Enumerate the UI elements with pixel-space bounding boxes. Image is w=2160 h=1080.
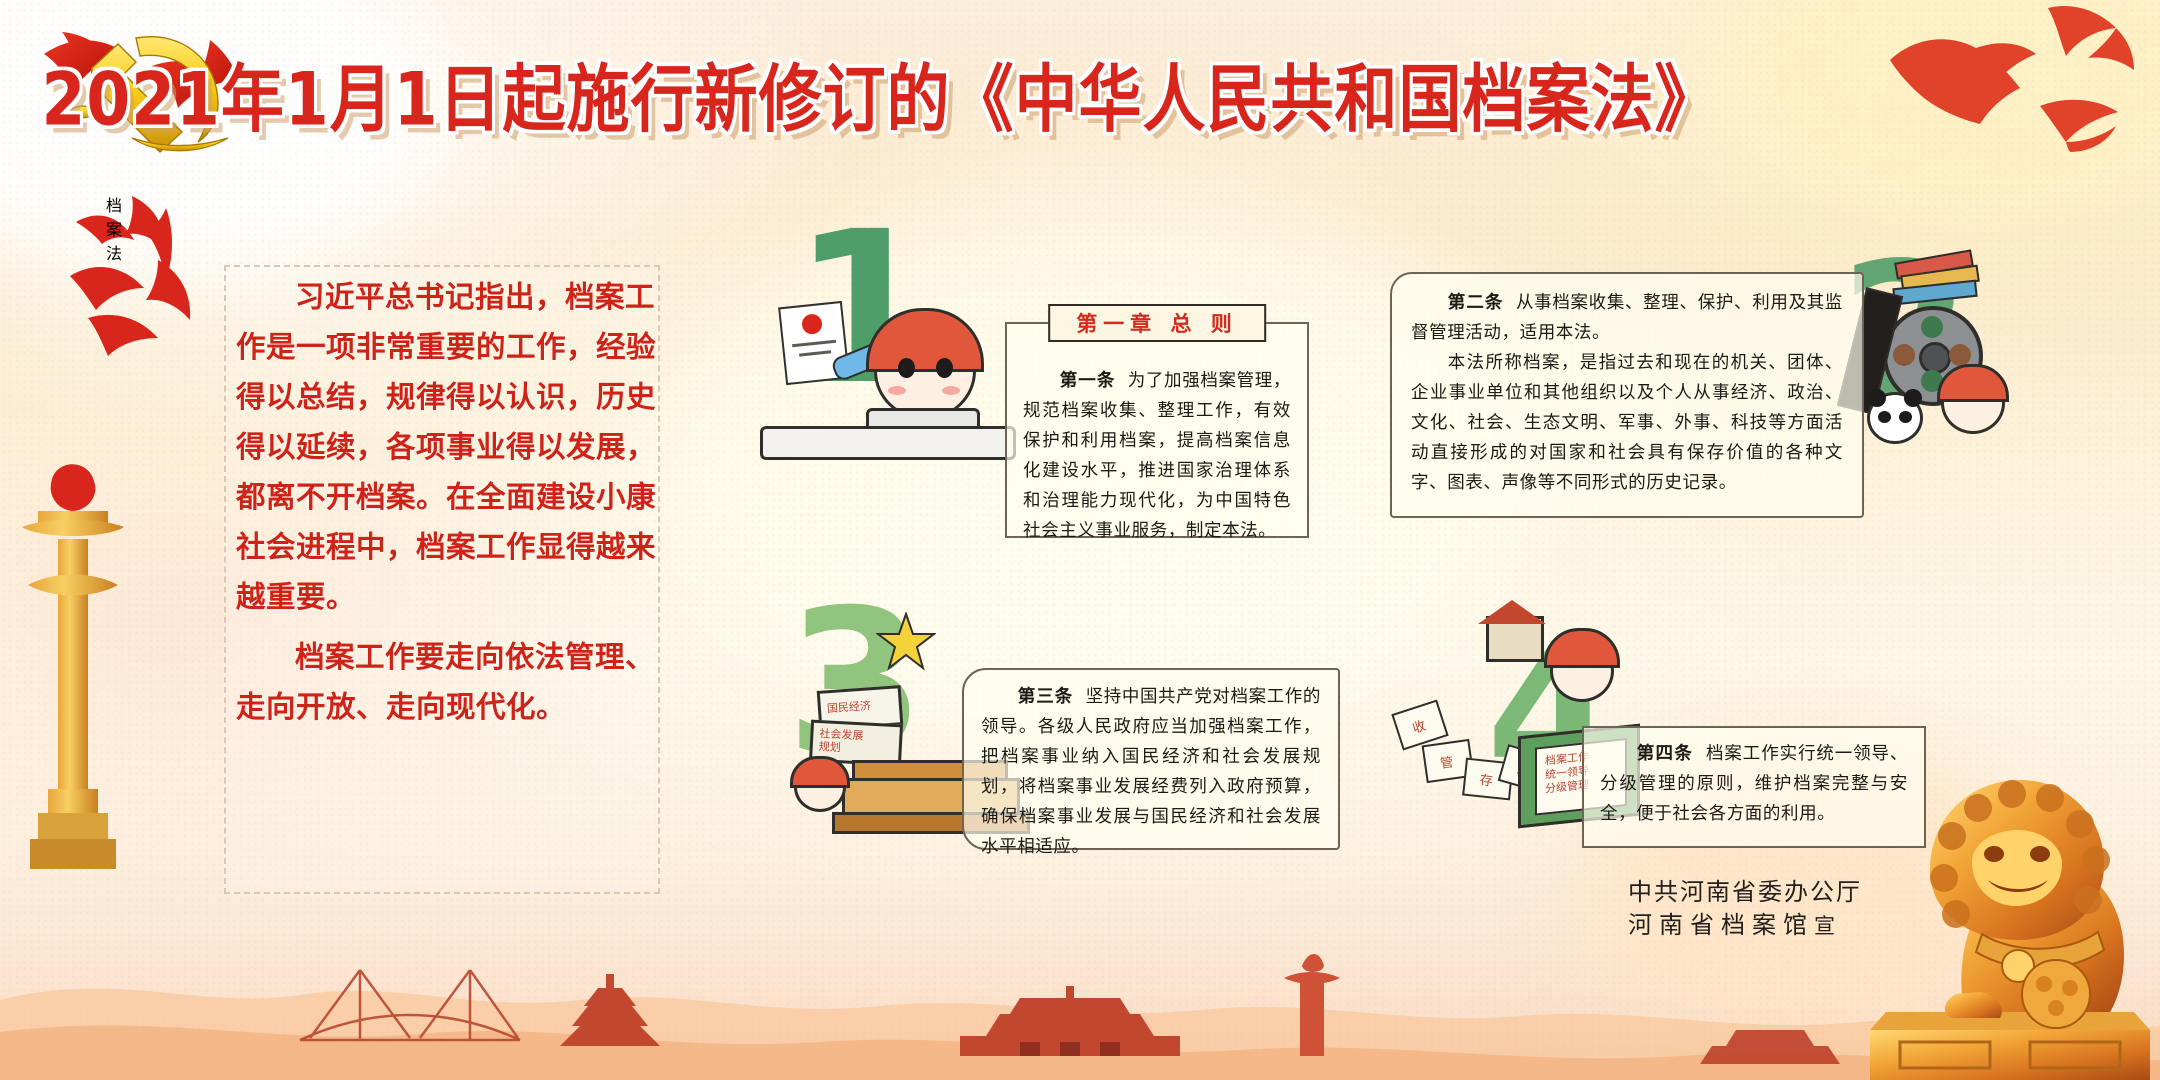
poster-canvas: 2021年1月1日起施行新修订的《中华人民共和国档案法》 档 案 法 bbox=[0, 0, 2160, 1080]
girl-eye-left bbox=[898, 358, 915, 378]
quote-paragraph-2: 档案工作要走向依法管理、走向开放、走向现代化。 bbox=[236, 632, 666, 732]
quote-paragraph-1: 习近平总书记指出，档案工作是一项非常重要的工作，经验得以总结，规律得以认识，历史… bbox=[236, 272, 666, 622]
file-tag-label-2: 管 bbox=[1439, 751, 1455, 772]
stamp-vertical-text: 档 案 法 bbox=[106, 192, 162, 362]
open-book bbox=[760, 426, 1016, 460]
article-two-label: 第二条 bbox=[1448, 293, 1504, 313]
chapter-one-caption: 第一章 总 则 bbox=[1048, 304, 1266, 342]
signature-line-2: 河南省档案馆 bbox=[1628, 911, 1814, 939]
house-roof-icon bbox=[1478, 600, 1546, 624]
stamp-char-3: 法 bbox=[106, 240, 162, 264]
article-two-body: 第二条 从事档案收集、整理、保护、利用及其监督管理活动，适用本法。 本法所称档案… bbox=[1411, 288, 1843, 498]
article-two-text-2: 本法所称档案，是指过去和现在的机关、团体、企业事业单位和其他组织以及个人从事经济… bbox=[1411, 353, 1843, 493]
illustration-number-one: 1 bbox=[770, 230, 1020, 430]
card-article-two: 第二条 从事档案收集、整理、保护、利用及其监督管理活动，适用本法。 本法所称档案… bbox=[1390, 272, 1864, 518]
stamp-char-1: 档 bbox=[106, 192, 162, 216]
article-three-body: 第三条 坚持中国共产党对档案工作的领导。各级人民政府应当加强档案工作，把档案事业… bbox=[981, 682, 1321, 862]
article-four-label: 第四条 bbox=[1637, 744, 1693, 764]
file-tag-label-1: 收 bbox=[1410, 715, 1428, 737]
star-icon bbox=[876, 612, 936, 672]
card-article-three: 第三条 坚持中国共产党对档案工作的领导。各级人民政府应当加强档案工作，把档案事业… bbox=[962, 668, 1340, 850]
book-label-2: 社会发展 规划 bbox=[818, 728, 863, 756]
panda-icon bbox=[1867, 392, 1923, 444]
header: 2021年1月1日起施行新修订的《中华人民共和国档案法》 bbox=[0, 0, 2160, 165]
peace-doves-icon bbox=[1880, 0, 2150, 165]
article-three-label: 第三条 bbox=[1018, 687, 1074, 707]
card-chapter-one: 第一章 总 则 第一条 为了加强档案管理，规范档案收集、整理工作，有效保护和利用… bbox=[1005, 322, 1309, 538]
girl-cheek-left bbox=[888, 386, 906, 395]
article-one-label: 第一条 bbox=[1060, 371, 1116, 391]
stamp-char-2: 案 bbox=[106, 216, 162, 240]
article-three-text: 坚持中国共产党对档案工作的领导。各级人民政府应当加强档案工作，把档案事业纳入国民… bbox=[981, 687, 1321, 857]
file-tag-label-3: 存 bbox=[1479, 769, 1494, 789]
quote-text: 习近平总书记指出，档案工作是一项非常重要的工作，经验得以总结，规律得以认识，历史… bbox=[236, 272, 666, 732]
signature-suffix: 宣 bbox=[1814, 914, 1835, 938]
girl-eye-right bbox=[936, 358, 953, 378]
article-one-text: 为了加强档案管理，规范档案收集、整理工作，有效保护和利用档案，提高档案信息化建设… bbox=[1023, 371, 1291, 541]
girl-cheek-right bbox=[942, 386, 960, 395]
huabiao-pillar-icon bbox=[18, 455, 128, 875]
chapter-one-body: 第一条 为了加强档案管理，规范档案收集、整理工作，有效保护和利用档案，提高档案信… bbox=[1023, 366, 1291, 546]
stone-lion-statue bbox=[1860, 750, 2160, 1080]
illustration-number-two: 2 bbox=[1845, 252, 2095, 452]
page-title: 2021年1月1日起施行新修订的《中华人民共和国档案法》 bbox=[255, 36, 1505, 150]
book-label-1: 国民经济 bbox=[826, 697, 871, 716]
